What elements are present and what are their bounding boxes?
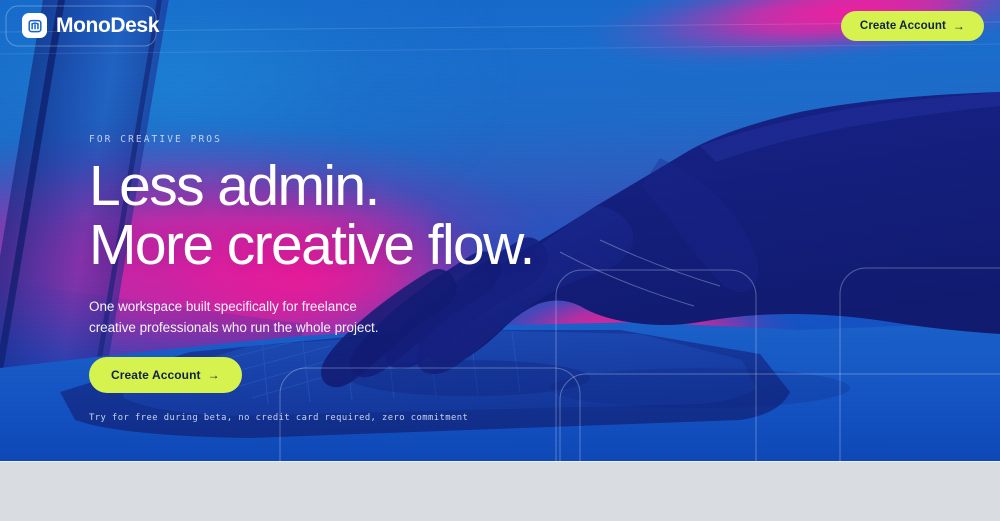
brand-logo[interactable]: MonoDesk [16, 7, 169, 44]
hero-create-account-label: Create Account [111, 368, 201, 382]
hero-section: MonoDesk Create Account → FOR CREATIVE P… [0, 0, 1000, 461]
hero-create-account-button[interactable]: Create Account → [89, 357, 242, 393]
site-header: MonoDesk Create Account → [0, 0, 1000, 51]
brand-name: MonoDesk [56, 15, 159, 36]
arrow-right-icon: → [208, 369, 220, 381]
hero-headline: Less admin. More creative flow. [89, 157, 649, 274]
header-create-account-label: Create Account [860, 20, 946, 32]
monodesk-m-mark-icon [22, 13, 47, 38]
arrow-right-icon: → [953, 20, 965, 32]
hero-cta-row: Create Account → [89, 357, 649, 393]
below-fold-section [0, 461, 1000, 521]
header-create-account-button[interactable]: Create Account → [841, 11, 984, 41]
hero-copy: FOR CREATIVE PROS Less admin. More creat… [89, 134, 649, 423]
hero-eyebrow: FOR CREATIVE PROS [89, 134, 649, 145]
section-divider [0, 461, 1000, 462]
hero-footnote: Try for free during beta, no credit card… [89, 413, 649, 423]
hero-headline-line-1: Less admin. [89, 157, 649, 216]
landing-page: MonoDesk Create Account → FOR CREATIVE P… [0, 0, 1000, 521]
hero-headline-line-2: More creative flow. [89, 216, 649, 275]
hero-subheadline: One workspace built specifically for fre… [89, 297, 389, 338]
